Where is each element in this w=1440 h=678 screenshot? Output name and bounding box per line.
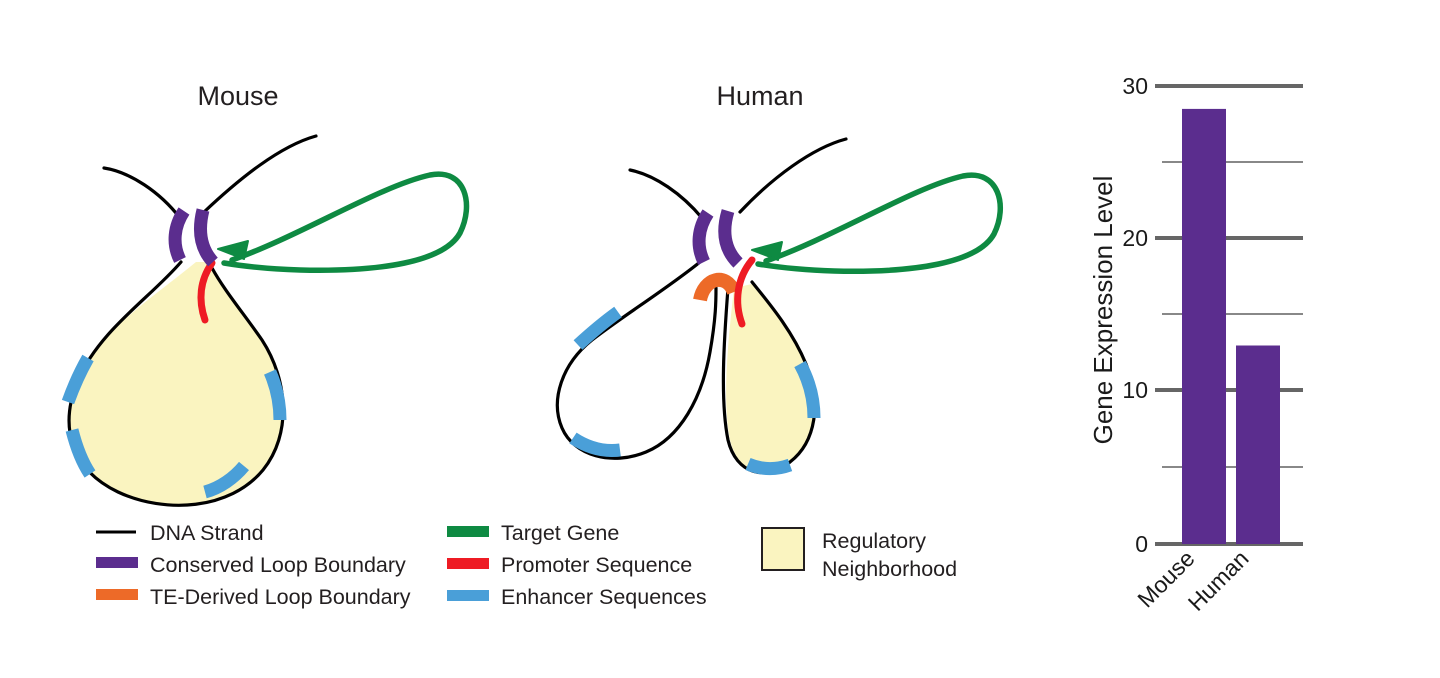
legend-label-te-derived-loop-boundary: TE-Derived Loop Boundary <box>150 585 411 609</box>
promoter-sequence-swatch <box>447 558 489 569</box>
legend-label-regulatory-neighborhood-line2: Neighborhood <box>822 557 957 581</box>
mouse-target-gene-loop <box>224 174 467 270</box>
chart-y-axis-title: Gene Expression Level <box>1088 176 1118 445</box>
legend-item-dna-strand: DNA Strand <box>96 521 264 545</box>
human-dna-strand-upper-right <box>740 139 846 212</box>
legend-label-enhancer-sequences: Enhancer Sequences <box>501 585 707 609</box>
human-dna-strand-upper-left <box>630 170 702 218</box>
y-tick-label-30: 30 <box>1122 73 1148 99</box>
human-conserved-loop-boundary-right <box>725 211 738 263</box>
bar-chart: Gene Expression Level 30 20 10 0 Mouse H… <box>1088 73 1303 616</box>
mouse-conserved-loop-boundary-right <box>200 210 213 262</box>
y-tick-label-20: 20 <box>1122 225 1148 251</box>
legend-item-enhancer-sequences: Enhancer Sequences <box>447 585 707 609</box>
mouse-conserved-loop-boundary-left <box>175 211 184 260</box>
legend-item-te-derived-loop-boundary: TE-Derived Loop Boundary <box>96 585 411 609</box>
enhancer-sequences-swatch <box>447 590 489 601</box>
human-enhancer-left-2 <box>573 438 620 451</box>
human-panel-title: Human <box>716 81 803 111</box>
legend-label-target-gene: Target Gene <box>501 521 619 545</box>
human-enhancer-right-2 <box>748 464 790 469</box>
mouse-panel: Mouse <box>68 81 467 505</box>
human-target-gene-loop <box>758 175 1000 271</box>
bar-mouse <box>1182 109 1226 544</box>
mouse-regulatory-neighborhood <box>69 262 283 505</box>
human-dna-strand-left-loop <box>557 262 716 458</box>
human-panel: Human <box>557 81 1000 473</box>
legend-label-dna-strand: DNA Strand <box>150 521 264 545</box>
mouse-dna-strand-upper-left <box>104 168 180 218</box>
legend-item-promoter-sequence: Promoter Sequence <box>447 553 692 577</box>
te-derived-loop-boundary-swatch <box>96 589 138 600</box>
y-tick-label-0: 0 <box>1135 531 1148 557</box>
conserved-loop-boundary-swatch <box>96 557 138 568</box>
y-tick-label-10: 10 <box>1122 377 1148 403</box>
human-target-gene-arrowhead <box>752 242 782 260</box>
human-enhancer-left-1 <box>578 312 618 345</box>
regulatory-neighborhood-swatch <box>762 528 804 570</box>
bar-human <box>1236 346 1280 545</box>
legend-item-conserved-loop-boundary: Conserved Loop Boundary <box>96 553 406 577</box>
mouse-panel-title: Mouse <box>197 81 278 111</box>
mouse-dna-strand-upper-right <box>203 136 316 213</box>
legend-label-regulatory-neighborhood-line1: Regulatory <box>822 529 926 553</box>
legend-label-promoter-sequence: Promoter Sequence <box>501 553 692 577</box>
scientific-figure: Mouse Human <box>0 0 1440 678</box>
legend-label-conserved-loop-boundary: Conserved Loop Boundary <box>150 553 406 577</box>
legend: DNA Strand Conserved Loop Boundary TE-De… <box>96 521 957 609</box>
mouse-target-gene-arrowhead <box>218 241 248 259</box>
legend-item-regulatory-neighborhood: Regulatory Neighborhood <box>762 528 957 581</box>
figure-root: Mouse Human <box>0 0 1440 678</box>
human-conserved-loop-boundary-left <box>699 213 708 262</box>
x-tick-label-human: Human <box>1183 545 1254 616</box>
legend-item-target-gene: Target Gene <box>447 521 619 545</box>
target-gene-swatch <box>447 526 489 537</box>
